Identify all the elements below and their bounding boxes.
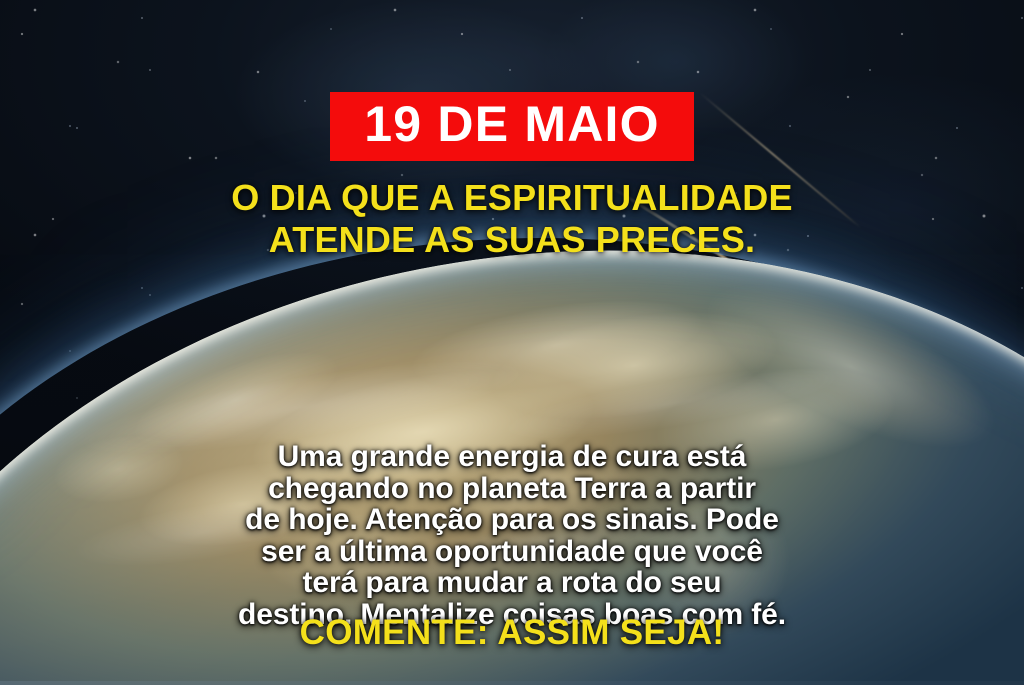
headline-line-2: ATENDE AS SUAS PRECES. [231, 219, 792, 261]
headline-line-1: O DIA QUE A ESPIRITUALIDADE [231, 177, 792, 219]
body-line-5: terá para mudar a rota do seu [40, 567, 984, 599]
date-banner-label: 19 DE MAIO [364, 99, 659, 150]
body-line-3: de hoje. Atenção para os sinais. Pode [40, 504, 984, 536]
headline: O DIA QUE A ESPIRITUALIDADE ATENDE AS SU… [231, 177, 792, 262]
poster-canvas: 19 DE MAIO O DIA QUE A ESPIRITUALIDADE A… [0, 0, 1024, 685]
date-banner: 19 DE MAIO [330, 92, 693, 161]
body-line-1: Uma grande energia de cura está [40, 441, 984, 473]
poster-content: 19 DE MAIO O DIA QUE A ESPIRITUALIDADE A… [0, 0, 1024, 685]
body-line-4: ser a última oportunidade que você [40, 536, 984, 568]
call-to-action-label: COMENTE: ASSIM SEJA! [0, 613, 1024, 653]
body-line-2: chegando no planeta Terra a partir [40, 473, 984, 505]
body-paragraph: Uma grande energia de cura está chegando… [0, 441, 1024, 630]
